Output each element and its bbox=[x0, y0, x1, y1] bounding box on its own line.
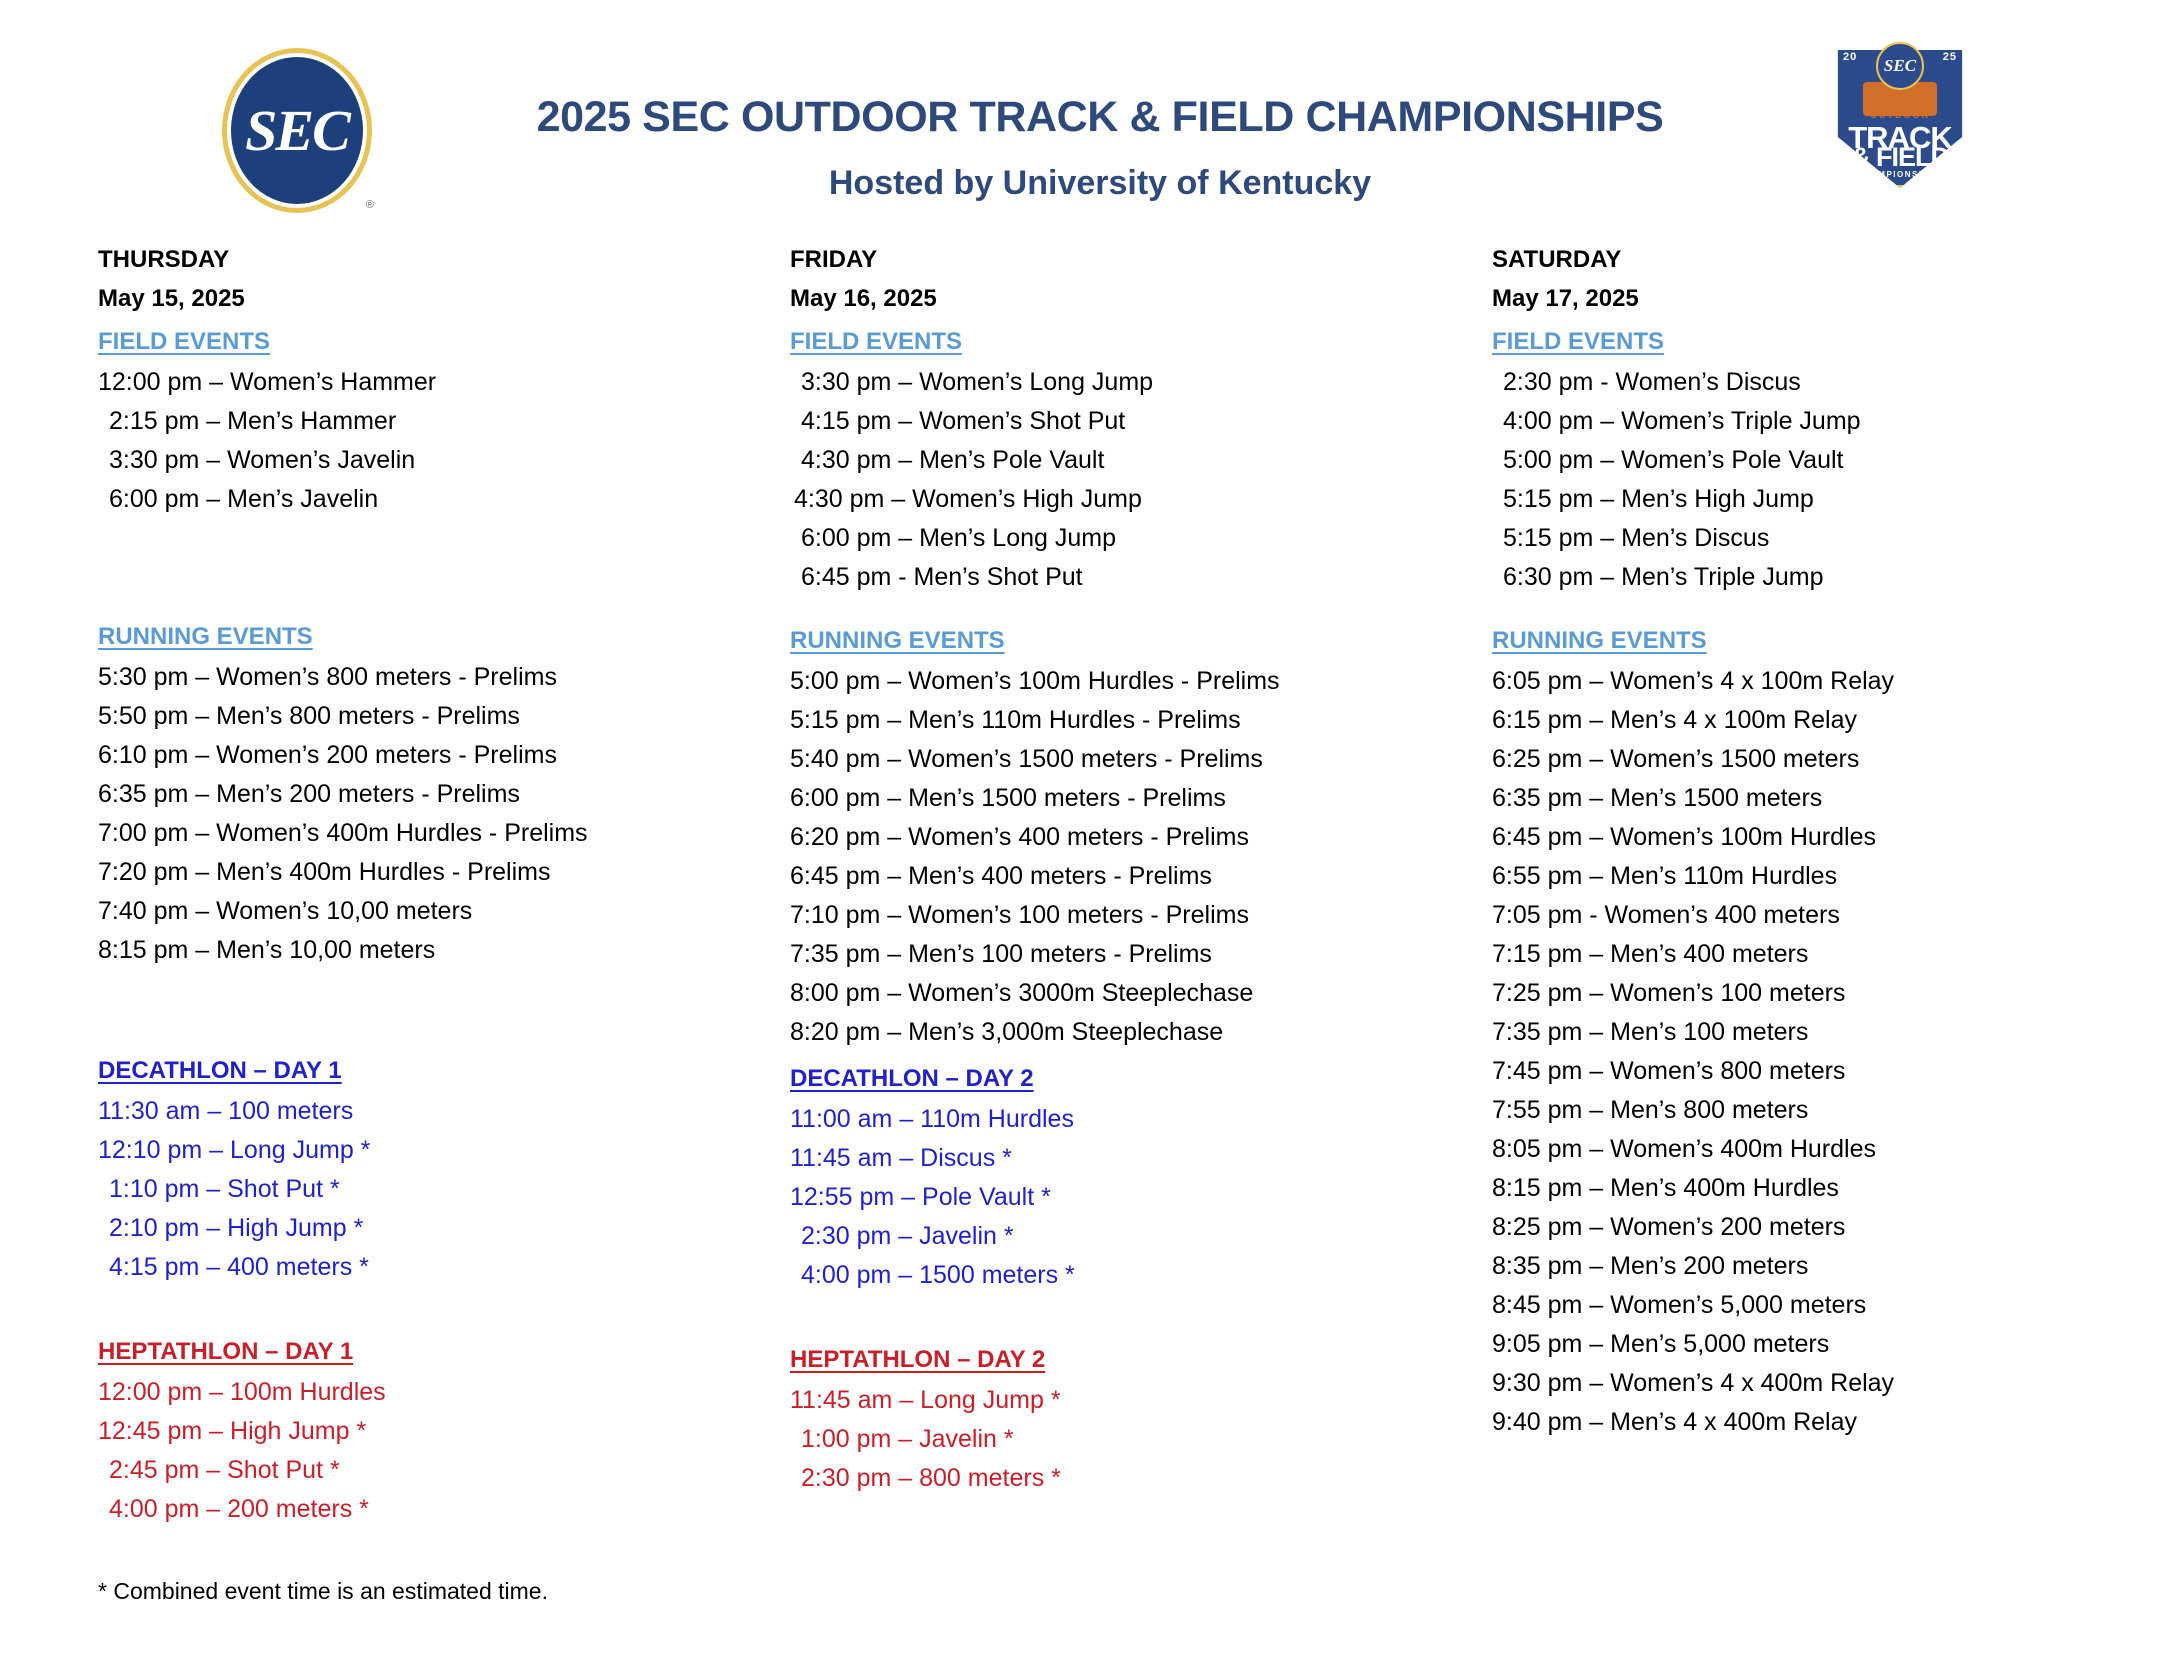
page-title: 2025 SEC OUTDOOR TRACK & FIELD CHAMPIONS… bbox=[400, 95, 1800, 140]
event-row: 7:35 pm – Men’s 100 meters - Prelims bbox=[790, 942, 1450, 967]
event-row: 8:00 pm – Women’s 3000m Steeplechase bbox=[790, 981, 1450, 1006]
decathlon-day1-heading: DECATHLON – DAY 1 bbox=[98, 1059, 342, 1083]
event-row: 8:25 pm – Women’s 200 meters bbox=[1492, 1215, 2132, 1240]
event-row: 6:35 pm – Men’s 1500 meters bbox=[1492, 786, 2132, 811]
logo-championships-text: CHAMPIONSHIPS bbox=[1826, 170, 1974, 179]
event-row: 11:45 am – Discus * bbox=[790, 1146, 1450, 1171]
event-row: 7:00 pm – Women’s 400m Hurdles - Prelims bbox=[98, 821, 758, 846]
event-row: 6:55 pm – Men’s 110m Hurdles bbox=[1492, 864, 2132, 889]
logo-outdoor-text: OUTDOOR bbox=[1870, 110, 1930, 120]
event-row: 12:45 pm – High Jump * bbox=[98, 1419, 758, 1444]
event-row: 7:25 pm – Women’s 100 meters bbox=[1492, 981, 2132, 1006]
event-row: 7:05 pm - Women’s 400 meters bbox=[1492, 903, 2132, 928]
event-row: 9:05 pm – Men’s 5,000 meters bbox=[1492, 1332, 2132, 1357]
event-row: 6:00 pm – Men’s 1500 meters - Prelims bbox=[790, 786, 1450, 811]
event-row: 8:05 pm – Women’s 400m Hurdles bbox=[1492, 1137, 2132, 1162]
field-events-heading-saturday: FIELD EVENTS bbox=[1492, 330, 1664, 354]
schedule-column-saturday: SATURDAY May 17, 2025 FIELD EVENTS 2:30 … bbox=[1492, 248, 2132, 1435]
event-row: 4:30 pm – Women’s High Jump bbox=[790, 487, 1450, 512]
section-spacer bbox=[98, 1280, 758, 1340]
event-row: 6:30 pm – Men’s Triple Jump bbox=[1492, 565, 2132, 590]
event-row: 6:00 pm – Men’s Javelin bbox=[98, 487, 758, 512]
section-spacer bbox=[790, 1045, 1450, 1067]
event-row: 6:15 pm – Men’s 4 x 100m Relay bbox=[1492, 708, 2132, 733]
day-name-thursday: THURSDAY bbox=[98, 248, 758, 272]
title-block: 2025 SEC OUTDOOR TRACK & FIELD CHAMPIONS… bbox=[400, 95, 1800, 203]
section-spacer bbox=[1492, 590, 2132, 612]
sec-logo-letters: SEC bbox=[222, 48, 372, 213]
event-row: 5:40 pm – Women’s 1500 meters - Prelims bbox=[790, 747, 1450, 772]
event-row: 7:40 pm – Women’s 10,00 meters bbox=[98, 899, 758, 924]
event-row: 11:30 am – 100 meters bbox=[98, 1099, 758, 1124]
running-events-heading-thursday: RUNNING EVENTS bbox=[98, 625, 313, 649]
section-spacer bbox=[790, 590, 1450, 612]
event-row: 8:35 pm – Men’s 200 meters bbox=[1492, 1254, 2132, 1279]
section-spacer bbox=[790, 1288, 1450, 1348]
day-date-thursday: May 15, 2025 bbox=[98, 285, 758, 313]
event-row: 5:00 pm – Women’s Pole Vault bbox=[1492, 448, 2132, 473]
day-date-saturday: May 17, 2025 bbox=[1492, 285, 2132, 313]
event-row: 12:10 pm – Long Jump * bbox=[98, 1138, 758, 1163]
heptathlon-day1-heading: HEPTATHLON – DAY 1 bbox=[98, 1340, 353, 1364]
event-row: 6:25 pm – Women’s 1500 meters bbox=[1492, 747, 2132, 772]
event-row: 4:30 pm – Men’s Pole Vault bbox=[790, 448, 1450, 473]
event-row: 12:00 pm – 100m Hurdles bbox=[98, 1380, 758, 1405]
logo-field-text: & FIELD bbox=[1826, 144, 1974, 171]
event-row: 6:35 pm – Men’s 200 meters - Prelims bbox=[98, 782, 758, 807]
day-date-friday: May 16, 2025 bbox=[790, 285, 1450, 313]
event-row: 3:30 pm – Women’s Long Jump bbox=[790, 370, 1450, 395]
event-row: 7:10 pm – Women’s 100 meters - Prelims bbox=[790, 903, 1450, 928]
registered-trademark-icon: ® bbox=[366, 199, 374, 211]
event-row: 6:10 pm – Women’s 200 meters - Prelims bbox=[98, 743, 758, 768]
day-name-saturday: SATURDAY bbox=[1492, 248, 2132, 272]
event-row: 5:15 pm – Men’s 110m Hurdles - Prelims bbox=[790, 708, 1450, 733]
event-row: 7:55 pm – Men’s 800 meters bbox=[1492, 1098, 2132, 1123]
page-subtitle: Hosted by University of Kentucky bbox=[400, 164, 1800, 203]
event-row: 8:45 pm – Women’s 5,000 meters bbox=[1492, 1293, 2132, 1318]
sec-conference-logo: SEC ® bbox=[222, 48, 372, 213]
event-row: 1:10 pm – Shot Put * bbox=[98, 1177, 758, 1202]
heptathlon-day2-heading: HEPTATHLON – DAY 2 bbox=[790, 1348, 1045, 1372]
schedule-column-thursday: THURSDAY May 15, 2025 FIELD EVENTS 12:00… bbox=[98, 248, 758, 1522]
event-row: 7:45 pm – Women’s 800 meters bbox=[1492, 1059, 2132, 1084]
event-row: 7:20 pm – Men’s 400m Hurdles - Prelims bbox=[98, 860, 758, 885]
event-row: 5:00 pm – Women’s 100m Hurdles - Prelims bbox=[790, 669, 1450, 694]
event-row: 2:45 pm – Shot Put * bbox=[98, 1458, 758, 1483]
track-and-field-championship-logo: 20 25 SEC OUTDOOR TRACK & FIELD CHAMPION… bbox=[1826, 38, 1974, 188]
schedule-column-friday: FRIDAY May 16, 2025 FIELD EVENTS 3:30 pm… bbox=[790, 248, 1450, 1491]
event-row: 2:30 pm – Javelin * bbox=[790, 1224, 1450, 1249]
event-row: 5:50 pm – Men’s 800 meters - Prelims bbox=[98, 704, 758, 729]
event-row: 6:05 pm – Women’s 4 x 100m Relay bbox=[1492, 669, 2132, 694]
event-row: 6:45 pm – Men’s 400 meters - Prelims bbox=[790, 864, 1450, 889]
event-row: 4:15 pm – Women’s Shot Put bbox=[790, 409, 1450, 434]
event-row: 4:00 pm – 1500 meters * bbox=[790, 1263, 1450, 1288]
event-row: 1:00 pm – Javelin * bbox=[790, 1427, 1450, 1452]
event-row: 3:30 pm – Women’s Javelin bbox=[98, 448, 758, 473]
event-row: 9:30 pm – Women’s 4 x 400m Relay bbox=[1492, 1371, 2132, 1396]
event-row: 9:40 pm – Men’s 4 x 400m Relay bbox=[1492, 1410, 2132, 1435]
event-row: 2:30 pm – 800 meters * bbox=[790, 1466, 1450, 1491]
field-events-heading-friday: FIELD EVENTS bbox=[790, 330, 962, 354]
event-row: 6:20 pm – Women’s 400 meters - Prelims bbox=[790, 825, 1450, 850]
section-spacer bbox=[98, 512, 758, 608]
event-row: 12:55 pm – Pole Vault * bbox=[790, 1185, 1450, 1210]
event-row: 11:45 am – Long Jump * bbox=[790, 1388, 1450, 1413]
event-row: 7:35 pm – Men’s 100 meters bbox=[1492, 1020, 2132, 1045]
footnote: * Combined event time is an estimated ti… bbox=[98, 1578, 548, 1605]
event-row: 7:15 pm – Men’s 400 meters bbox=[1492, 942, 2132, 967]
day-name-friday: FRIDAY bbox=[790, 248, 1450, 272]
event-row: 8:15 pm – Men’s 10,00 meters bbox=[98, 938, 758, 963]
event-row: 2:10 pm – High Jump * bbox=[98, 1216, 758, 1241]
event-row: 2:30 pm - Women’s Discus bbox=[1492, 370, 2132, 395]
event-row: 5:30 pm – Women’s 800 meters - Prelims bbox=[98, 665, 758, 690]
section-spacer bbox=[98, 963, 758, 1059]
event-row: 4:00 pm – 200 meters * bbox=[98, 1497, 758, 1522]
event-row: 11:00 am – 110m Hurdles bbox=[790, 1107, 1450, 1132]
event-row: 2:15 pm – Men’s Hammer bbox=[98, 409, 758, 434]
logo-year-right: 25 bbox=[1943, 51, 1957, 63]
logo-sec-badge: SEC bbox=[1876, 42, 1924, 90]
event-row: 4:00 pm – Women’s Triple Jump bbox=[1492, 409, 2132, 434]
logo-year-left: 20 bbox=[1843, 51, 1857, 63]
event-row: 4:15 pm – 400 meters * bbox=[98, 1255, 758, 1280]
page-header: SEC ® 2025 SEC OUTDOOR TRACK & FIELD CHA… bbox=[0, 0, 2160, 245]
running-events-heading-saturday: RUNNING EVENTS bbox=[1492, 629, 1707, 653]
event-row: 12:00 pm – Women’s Hammer bbox=[98, 370, 758, 395]
event-row: 6:00 pm – Men’s Long Jump bbox=[790, 526, 1450, 551]
event-row: 6:45 pm – Women’s 100m Hurdles bbox=[1492, 825, 2132, 850]
event-row: 8:15 pm – Men’s 400m Hurdles bbox=[1492, 1176, 2132, 1201]
field-events-heading-thursday: FIELD EVENTS bbox=[98, 330, 270, 354]
event-row: 8:20 pm – Men’s 3,000m Steeplechase bbox=[790, 1020, 1450, 1045]
event-row: 5:15 pm – Men’s High Jump bbox=[1492, 487, 2132, 512]
event-row: 6:45 pm - Men’s Shot Put bbox=[790, 565, 1450, 590]
decathlon-day2-heading: DECATHLON – DAY 2 bbox=[790, 1067, 1034, 1091]
event-row: 5:15 pm – Men’s Discus bbox=[1492, 526, 2132, 551]
running-events-heading-friday: RUNNING EVENTS bbox=[790, 629, 1005, 653]
